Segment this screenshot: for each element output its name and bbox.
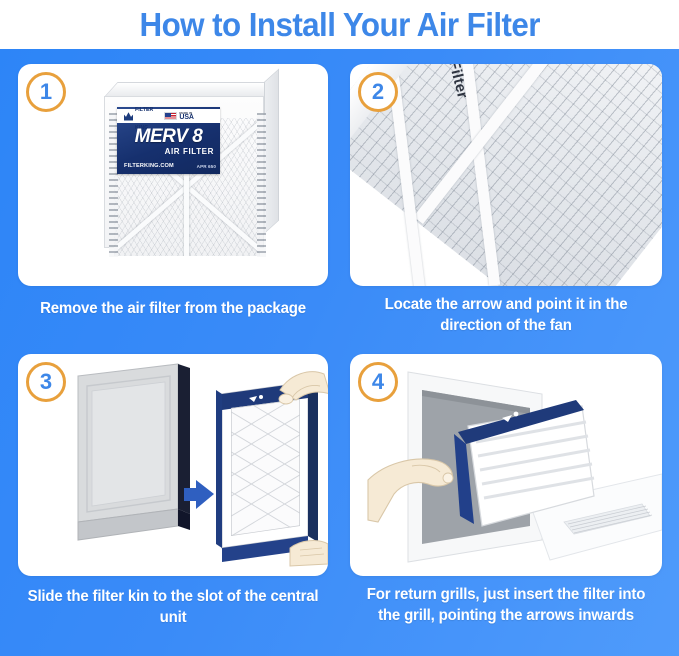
- step-card-1: FILTER KING MADE IN: [18, 64, 328, 286]
- step-number-1: 1: [40, 81, 52, 103]
- apr-rating: APR 650: [197, 164, 216, 169]
- hand-bottom: [290, 541, 328, 566]
- step-number-2: 2: [372, 81, 384, 103]
- step-card-4: 4: [350, 354, 662, 576]
- step-card-2: AIR FLOW Air Filter 2: [350, 64, 662, 286]
- air-filter-panel: [216, 382, 318, 562]
- filter-side-bevel: [264, 68, 279, 234]
- step-number-3: 3: [40, 371, 52, 393]
- air-filter-product-photo: FILTER KING MADE IN: [102, 82, 280, 257]
- label-subtitle: AIR FILTER: [117, 147, 214, 156]
- step-card-3: 3: [18, 354, 328, 576]
- step-badge-3: 3: [26, 362, 66, 402]
- step-panel-2: AIR FLOW Air Filter 2 Locate the arrow a…: [350, 64, 662, 349]
- product-label: FILTER KING MADE IN: [117, 107, 220, 174]
- brand-line-1: FILTER: [135, 107, 153, 113]
- made-in-usa-badge: MADE IN USA: [164, 111, 193, 120]
- header: How to Install Your Air Filter: [0, 0, 679, 49]
- infographic-page: How to Install Your Air Filter: [0, 0, 679, 656]
- filter-frame: FILTER KING MADE IN: [104, 96, 264, 248]
- step-number-4: 4: [372, 371, 384, 393]
- us-flag-icon: [164, 112, 177, 120]
- crown-icon: [124, 112, 133, 121]
- steps-grid: FILTER KING MADE IN: [0, 49, 679, 656]
- step-badge-1: 1: [26, 72, 66, 112]
- label-brand-row: FILTER KING MADE IN: [117, 109, 220, 123]
- page-title: How to Install Your Air Filter: [139, 8, 539, 42]
- brand-website: FILTERKING.COM: [124, 163, 174, 169]
- country-label: USA: [179, 116, 193, 121]
- label-footer: FILTERKING.COM APR 650: [124, 163, 216, 169]
- step-caption-2: Locate the arrow and point it in the dir…: [355, 294, 658, 336]
- step-caption-4: For return grills, just insert the filte…: [355, 584, 658, 626]
- step-badge-2: 2: [358, 72, 398, 112]
- step-caption-3: Slide the filter kin to the slot of the …: [23, 586, 324, 628]
- step-panel-4: 4 For return grills, just insert the fil…: [350, 354, 662, 654]
- central-unit-housing: [78, 364, 190, 540]
- made-in-usa-text: MADE IN USA: [179, 111, 193, 120]
- steps-canvas: FILTER KING MADE IN: [0, 49, 679, 656]
- step-caption-1: Remove the air filter from the package: [23, 298, 324, 319]
- step-panel-3: 3 Slide the filter kin to the slot of th…: [18, 354, 328, 644]
- filter-top-bevel: [104, 82, 278, 97]
- merv-rating: MERV 8: [117, 127, 220, 147]
- step-panel-1: FILTER KING MADE IN: [18, 64, 328, 349]
- step-badge-4: 4: [358, 362, 398, 402]
- filter-pleat-edge-right: [257, 113, 266, 257]
